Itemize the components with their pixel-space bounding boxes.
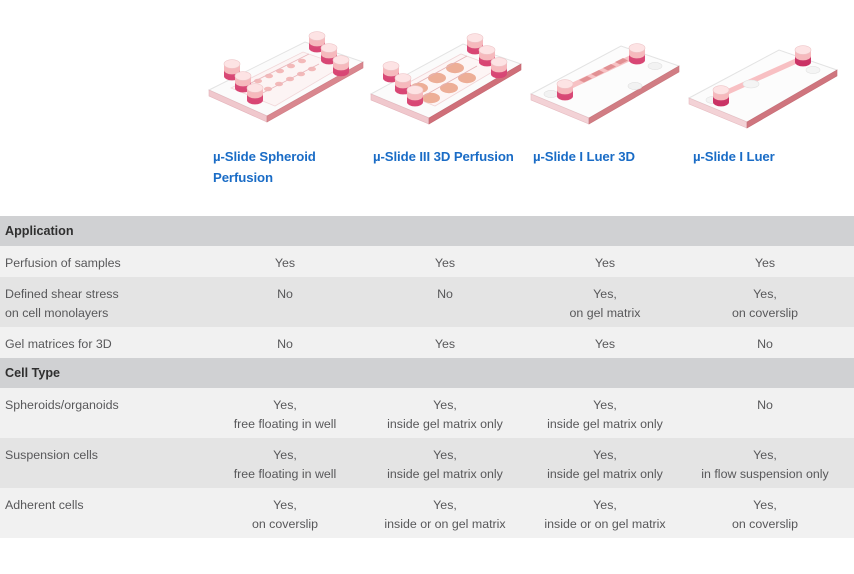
row-label: Spheroids/organoids — [0, 396, 205, 415]
product-column-3[interactable]: µ-Slide I Luer — [685, 0, 845, 205]
table-row: Adherent cells Yes,on coverslip Yes,insi… — [0, 488, 854, 538]
row-value-1: No — [365, 285, 525, 304]
product-title-2[interactable]: µ-Slide I Luer 3D — [533, 146, 683, 167]
row-value-3: No — [685, 335, 845, 354]
microscopy-slide-i-luer-photo — [677, 18, 853, 136]
row-value-1: Yes — [365, 335, 525, 354]
row-value-0: No — [205, 335, 365, 354]
row-value-0: Yes,on coverslip — [205, 496, 365, 534]
row-label: Perfusion of samples — [0, 254, 205, 273]
microscopy-slide-iii-3d-perfusion-photo — [357, 18, 533, 136]
row-value-2: Yes,inside gel matrix only — [525, 396, 685, 434]
table-row: Suspension cells Yes,free floating in we… — [0, 438, 854, 488]
row-value-2: Yes,inside gel matrix only — [525, 446, 685, 484]
row-label: Adherent cells — [0, 496, 205, 515]
row-value-3: Yes,on coverslip — [685, 496, 845, 534]
section-header-cell-type: Cell Type — [0, 358, 854, 388]
microscopy-slide-i-luer-3d-photo — [517, 18, 693, 136]
product-column-1[interactable]: µ-Slide III 3D Perfusion — [365, 0, 525, 205]
microscopy-slide-spheroid-perfusion-photo — [197, 18, 373, 136]
row-value-0: Yes,free floating in well — [205, 446, 365, 484]
row-value-3: Yes,in flow suspension only — [685, 446, 845, 484]
table-row: Gel matrices for 3D No Yes Yes No — [0, 327, 854, 358]
row-value-3: No — [685, 396, 845, 415]
row-value-0: Yes,free floating in well — [205, 396, 365, 434]
section-header-label: Application — [5, 224, 74, 238]
row-value-2: Yes,on gel matrix — [525, 285, 685, 323]
product-title-0[interactable]: µ-Slide Spheroid Perfusion — [213, 146, 363, 188]
row-value-1: Yes,inside gel matrix only — [365, 446, 525, 484]
product-column-0[interactable]: µ-Slide Spheroid Perfusion — [205, 0, 365, 205]
row-value-2: Yes,inside or on gel matrix — [525, 496, 685, 534]
table-row: Perfusion of samples Yes Yes Yes Yes — [0, 246, 854, 277]
row-label: Gel matrices for 3D — [0, 335, 205, 354]
row-value-1: Yes,inside gel matrix only — [365, 396, 525, 434]
row-value-0: No — [205, 285, 365, 304]
row-value-1: Yes — [365, 254, 525, 273]
product-column-2[interactable]: µ-Slide I Luer 3D — [525, 0, 685, 205]
row-value-3: Yes,on coverslip — [685, 285, 845, 323]
row-label: Defined shear stress on cell monolayers — [0, 285, 205, 323]
product-comparison-page: µ-Slide Spheroid Perfusion — [0, 0, 854, 574]
row-value-3: Yes — [685, 254, 845, 273]
row-label: Suspension cells — [0, 446, 205, 465]
section-header-label: Cell Type — [5, 366, 60, 380]
row-value-1: Yes,inside or on gel matrix — [365, 496, 525, 534]
product-title-1[interactable]: µ-Slide III 3D Perfusion — [373, 146, 523, 167]
table-row: Spheroids/organoids Yes,free floating in… — [0, 388, 854, 438]
row-value-0: Yes — [205, 254, 365, 273]
table-row: Defined shear stress on cell monolayers … — [0, 277, 854, 327]
section-header-application: Application — [0, 216, 854, 246]
row-value-2: Yes — [525, 335, 685, 354]
product-title-3[interactable]: µ-Slide I Luer — [693, 146, 843, 167]
row-value-2: Yes — [525, 254, 685, 273]
comparison-table: Application Perfusion of samples Yes Yes… — [0, 216, 854, 538]
product-header-strip: µ-Slide Spheroid Perfusion — [0, 0, 854, 205]
